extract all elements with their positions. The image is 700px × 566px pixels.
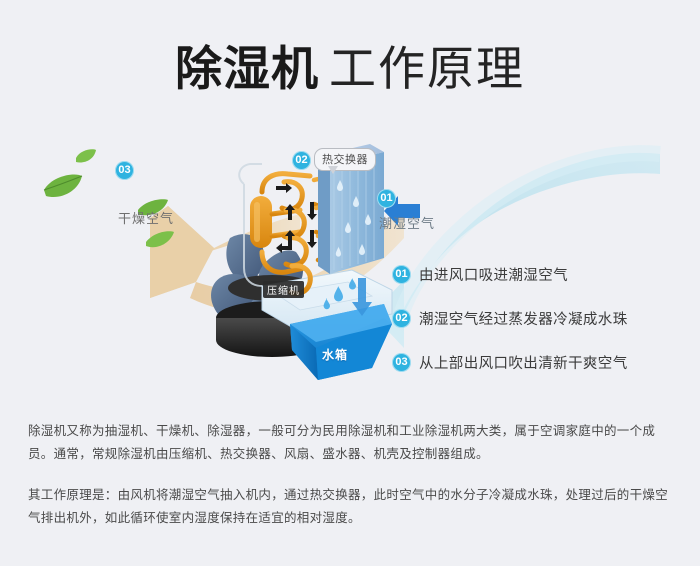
page-root: 除湿机工作原理 xyxy=(0,0,700,566)
paragraph-1: 除湿机又称为抽湿机、干燥机、除湿器，一般可分为民用除湿机和工业除湿机两大类，属于… xyxy=(28,420,678,466)
humid-air-label: 潮湿空气 xyxy=(379,213,435,232)
compressor-unit xyxy=(250,196,272,248)
page-title-light: 工作原理 xyxy=(329,42,525,95)
step-text-02: 潮湿空气经过蒸发器冷凝成水珠 xyxy=(419,308,628,329)
step-text-03: 从上部出风口吹出清新干爽空气 xyxy=(419,352,628,373)
step-badge-01: 01 xyxy=(392,265,411,284)
step-item-02: 02 潮湿空气经过蒸发器冷凝成水珠 xyxy=(392,300,692,336)
dry-air-label: 干燥空气 xyxy=(118,208,174,227)
compressor-label: 压缩机 xyxy=(263,281,304,298)
step-item-01: 01 由进风口吸进潮湿空气 xyxy=(392,256,692,292)
steps-list: 01 由进风口吸进潮湿空气 02 潮湿空气经过蒸发器冷凝成水珠 03 从上部出风… xyxy=(392,256,692,388)
page-title: 除湿机工作原理 xyxy=(0,30,700,99)
callout-pointer-icon xyxy=(328,166,338,174)
humid-air-badge: 01 xyxy=(377,188,396,208)
heat-exchanger-badge: 02 xyxy=(292,150,311,170)
step-badge-03: 03 xyxy=(392,353,411,372)
page-title-bold: 除湿机 xyxy=(175,42,319,95)
water-tank-label: 水箱 xyxy=(322,346,348,363)
badge-03: 03 xyxy=(115,161,134,180)
heat-exchanger-callout: 热交换器 xyxy=(314,148,376,171)
step-item-03: 03 从上部出风口吹出清新干爽空气 xyxy=(392,344,692,380)
description-block: 除湿机又称为抽湿机、干燥机、除湿器，一般可分为民用除湿机和工业除湿机两大类，属于… xyxy=(28,420,678,530)
badge-02: 02 xyxy=(292,151,311,170)
badge-01: 01 xyxy=(377,189,396,208)
paragraph-2: 其工作原理是：由风机将潮湿空气抽入机内，通过热交换器，此时空气中的水分子冷凝成水… xyxy=(28,484,678,530)
step-badge-02: 02 xyxy=(392,309,411,328)
step-text-01: 由进风口吸进潮湿空气 xyxy=(419,264,568,285)
dry-air-badge: 03 xyxy=(115,160,134,180)
